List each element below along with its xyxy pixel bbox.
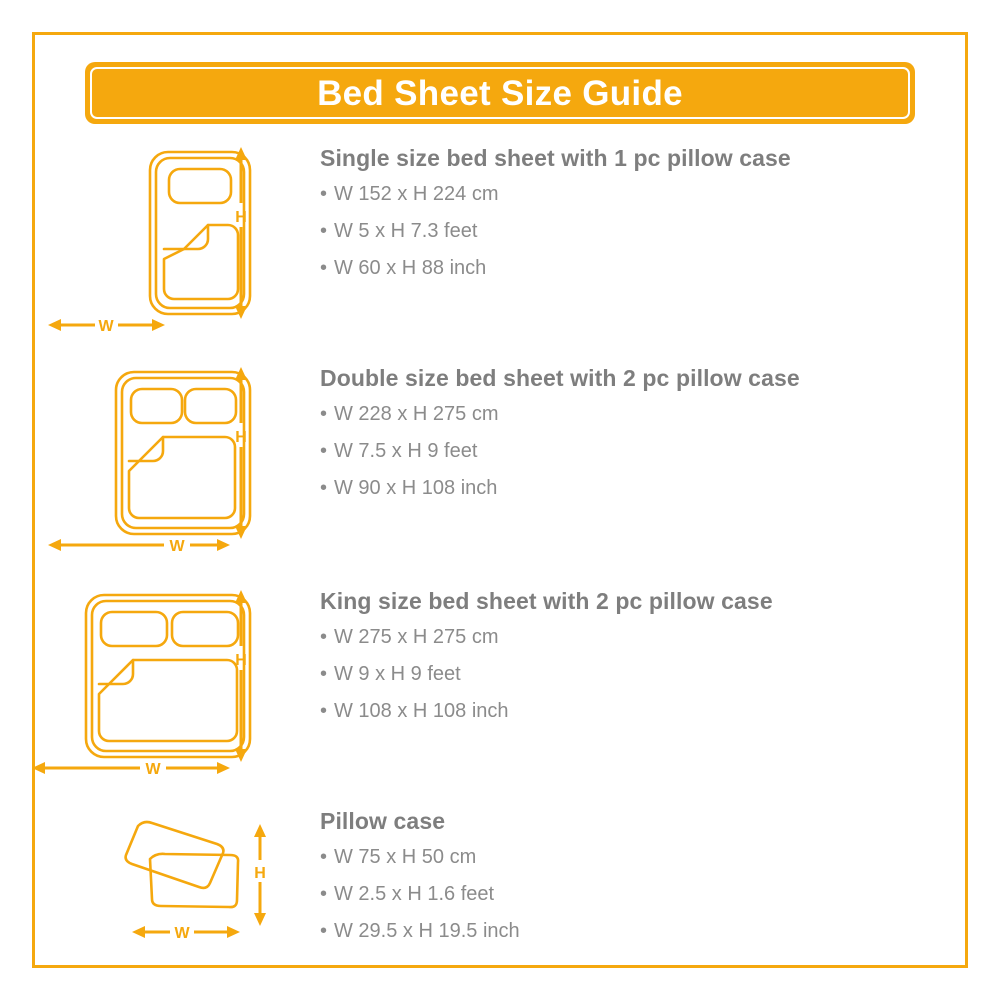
double-bed-heading: Double size bed sheet with 2 pc pillow c… (320, 365, 800, 392)
pillow-case-measurement-list: •W 75 x H 50 cm •W 2.5 x H 1.6 feet •W 2… (320, 847, 520, 941)
pillow-case-text-block: Pillow case •W 75 x H 50 cm •W 2.5 x H 1… (320, 808, 520, 958)
measurement-text: W 75 x H 50 cm (334, 846, 476, 868)
bullet-icon: • (320, 441, 334, 461)
width-label-pillow: W (174, 925, 190, 942)
double-bed-icon: H W (32, 365, 292, 565)
single-bed-text-block: Single size bed sheet with 1 pc pillow c… (320, 145, 791, 295)
bullet-icon: • (320, 664, 334, 684)
double-bed-figure: H W (32, 365, 292, 565)
width-label-king: W (145, 761, 161, 778)
pillow-case-figure: H W (32, 808, 292, 958)
measurement-text: W 108 x H 108 inch (334, 700, 509, 722)
measurement-item: •W 152 x H 224 cm (320, 184, 791, 204)
measurement-text: W 152 x H 224 cm (334, 183, 499, 205)
king-bed-icon: H W (32, 588, 292, 788)
king-bed-text-block: King size bed sheet with 2 pc pillow cas… (320, 588, 773, 738)
size-row-single: H W Single size bed sheet with 1 pc pill… (32, 145, 968, 345)
bullet-icon: • (320, 221, 334, 241)
measurement-text: W 29.5 x H 19.5 inch (334, 920, 520, 942)
bullet-icon: • (320, 184, 334, 204)
measurement-item: •W 5 x H 7.3 feet (320, 221, 791, 241)
size-row-pillow: H W Pillow case •W 75 x H 50 cm •W 2.5 x… (32, 808, 968, 958)
bullet-icon: • (320, 478, 334, 498)
measurement-text: W 228 x H 275 cm (334, 403, 499, 425)
height-label-king: H (235, 652, 247, 669)
king-bed-heading: King size bed sheet with 2 pc pillow cas… (320, 588, 773, 615)
measurement-item: •W 60 x H 88 inch (320, 258, 791, 278)
size-row-king: H W King size bed sheet with 2 pc pillow… (32, 588, 968, 788)
measurement-text: W 275 x H 275 cm (334, 626, 499, 648)
measurement-item: •W 2.5 x H 1.6 feet (320, 884, 520, 904)
double-bed-measurement-list: •W 228 x H 275 cm •W 7.5 x H 9 feet •W 9… (320, 404, 800, 498)
measurement-text: W 7.5 x H 9 feet (334, 440, 477, 462)
single-bed-icon: H W (32, 145, 292, 345)
measurement-item: •W 275 x H 275 cm (320, 627, 773, 647)
measurement-item: •W 90 x H 108 inch (320, 478, 800, 498)
bullet-icon: • (320, 627, 334, 647)
pillow-case-heading: Pillow case (320, 808, 520, 835)
bullet-icon: • (320, 404, 334, 424)
bed-sheet-size-guide-page: Bed Sheet Size Guide (0, 0, 1001, 1000)
single-bed-measurement-list: •W 152 x H 224 cm •W 5 x H 7.3 feet •W 6… (320, 184, 791, 278)
measurement-item: •W 75 x H 50 cm (320, 847, 520, 867)
measurement-item: •W 7.5 x H 9 feet (320, 441, 800, 461)
king-bed-figure: H W (32, 588, 292, 788)
bullet-icon: • (320, 847, 334, 867)
measurement-text: W 60 x H 88 inch (334, 257, 486, 279)
width-dimension-arrow-double (48, 539, 230, 551)
page-title: Bed Sheet Size Guide (317, 76, 683, 111)
pillow-case-icon: H W (32, 808, 292, 958)
single-bed-figure: H W (32, 145, 292, 345)
measurement-item: •W 108 x H 108 inch (320, 701, 773, 721)
double-bed-text-block: Double size bed sheet with 2 pc pillow c… (320, 365, 800, 515)
bullet-icon: • (320, 701, 334, 721)
measurement-text: W 90 x H 108 inch (334, 477, 497, 499)
king-bed-measurement-list: •W 275 x H 275 cm •W 9 x H 9 feet •W 108… (320, 627, 773, 721)
measurement-item: •W 9 x H 9 feet (320, 664, 773, 684)
measurement-text: W 9 x H 9 feet (334, 663, 461, 685)
measurement-item: •W 228 x H 275 cm (320, 404, 800, 424)
size-row-double: H W Double size bed sheet with 2 pc pill… (32, 365, 968, 565)
measurement-item: •W 29.5 x H 19.5 inch (320, 921, 520, 941)
width-label-double: W (169, 538, 185, 555)
height-label-single: H (235, 209, 247, 226)
bullet-icon: • (320, 258, 334, 278)
page-title-banner: Bed Sheet Size Guide (85, 62, 915, 124)
measurement-text: W 2.5 x H 1.6 feet (334, 883, 494, 905)
bullet-icon: • (320, 921, 334, 941)
width-label-single: W (98, 318, 114, 335)
bullet-icon: • (320, 884, 334, 904)
height-label-double: H (235, 429, 247, 446)
single-bed-heading: Single size bed sheet with 1 pc pillow c… (320, 145, 791, 172)
width-dimension-arrow-king (32, 762, 230, 774)
measurement-text: W 5 x H 7.3 feet (334, 220, 477, 242)
height-label-pillow: H (254, 865, 266, 882)
